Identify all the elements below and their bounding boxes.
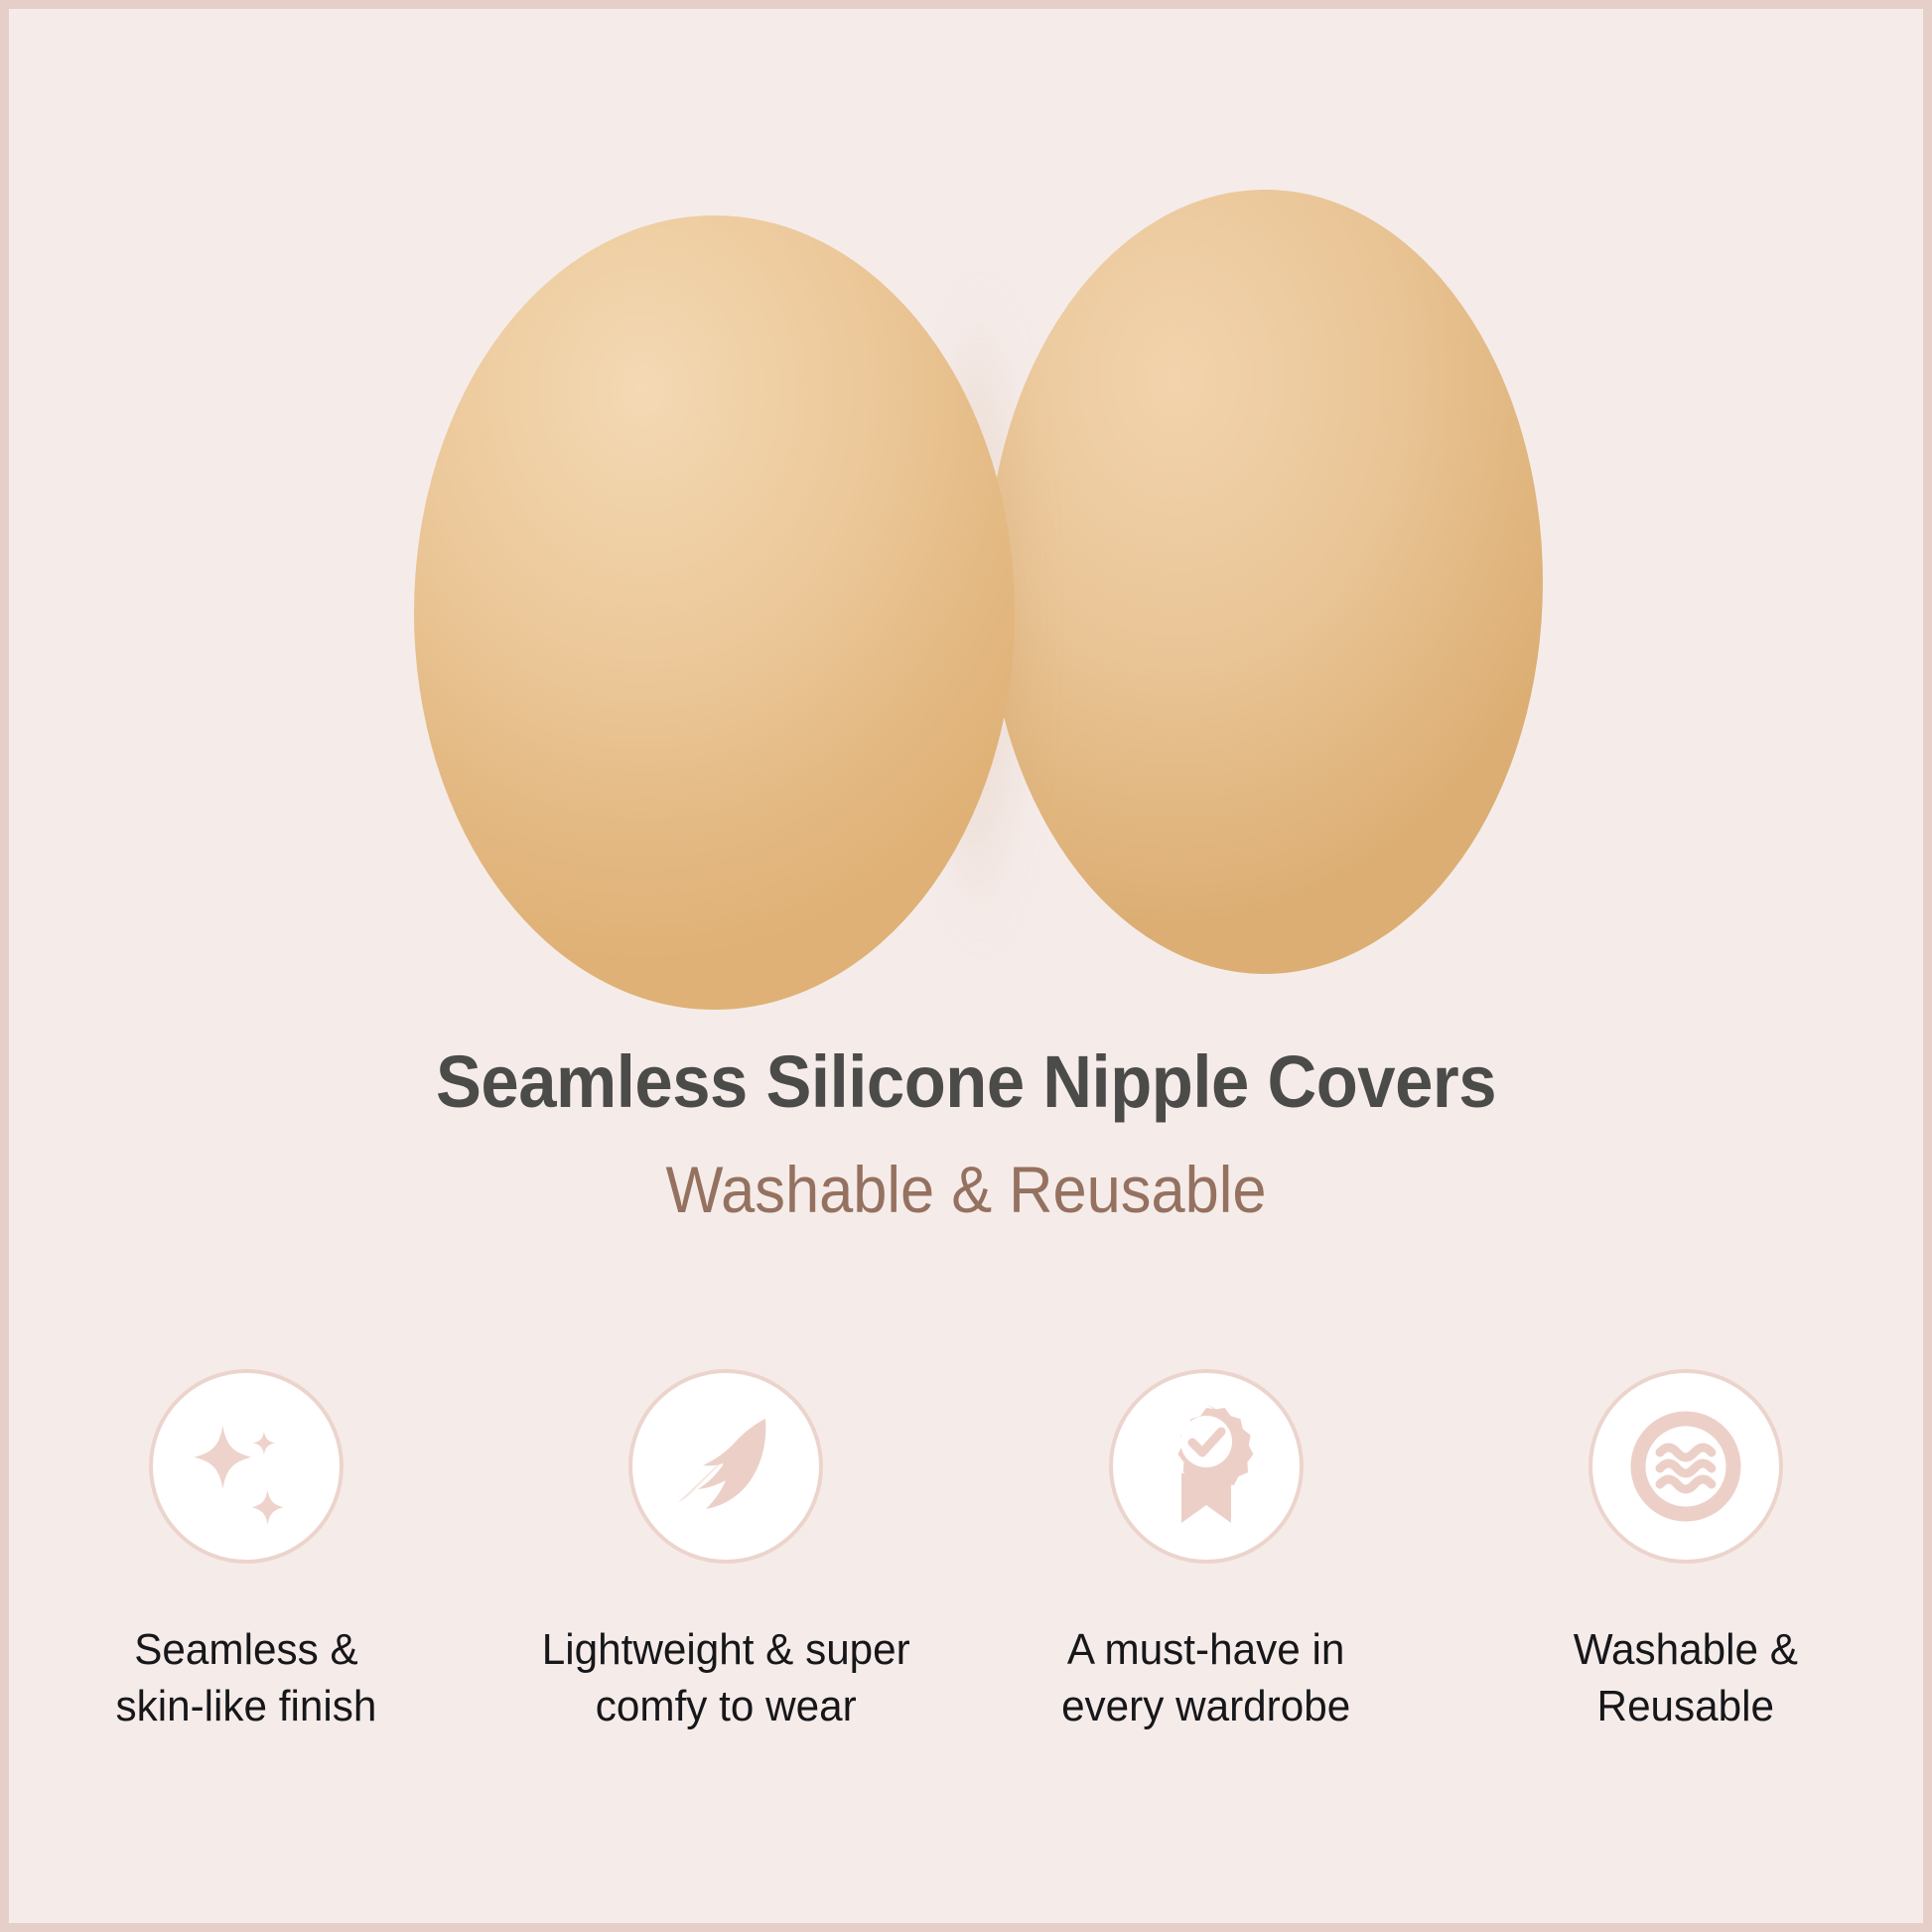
award-badge-icon <box>1148 1402 1265 1531</box>
feature-item-lightweight: Lightweight & super comfy to wear <box>512 1369 939 1734</box>
feature-list: Seamless & skin-like finish Lightweight … <box>33 1369 1899 1734</box>
page-title: Seamless Silicone Nipple Covers <box>75 1041 1856 1124</box>
product-hero-image <box>9 9 1923 1041</box>
feature-label: Seamless & skin-like finish <box>116 1621 377 1734</box>
feature-label: Washable & Reusable <box>1574 1621 1798 1734</box>
feature-label: A must-have in every wardrobe <box>1061 1621 1350 1734</box>
sparkles-icon <box>187 1407 306 1526</box>
feature-icon-badge <box>149 1369 344 1564</box>
feature-item-washable: Washable & Reusable <box>1472 1369 1899 1734</box>
feature-icon-badge <box>1588 1369 1783 1564</box>
headings-block: Seamless Silicone Nipple Covers Washable… <box>9 1041 1923 1227</box>
feature-label: Lightweight & super comfy to wear <box>542 1621 910 1734</box>
silicone-disc-front <box>414 215 1015 1010</box>
feature-icon-badge <box>1109 1369 1304 1564</box>
page-subtitle: Washable & Reusable <box>75 1154 1856 1227</box>
product-infographic-page: Seamless Silicone Nipple Covers Washable… <box>0 0 1932 1932</box>
feather-icon <box>665 1406 786 1527</box>
feature-item-seamless: Seamless & skin-like finish <box>33 1369 460 1734</box>
feature-icon-badge <box>628 1369 823 1564</box>
water-waves-icon <box>1624 1405 1747 1528</box>
feature-item-must-have: A must-have in every wardrobe <box>993 1369 1420 1734</box>
